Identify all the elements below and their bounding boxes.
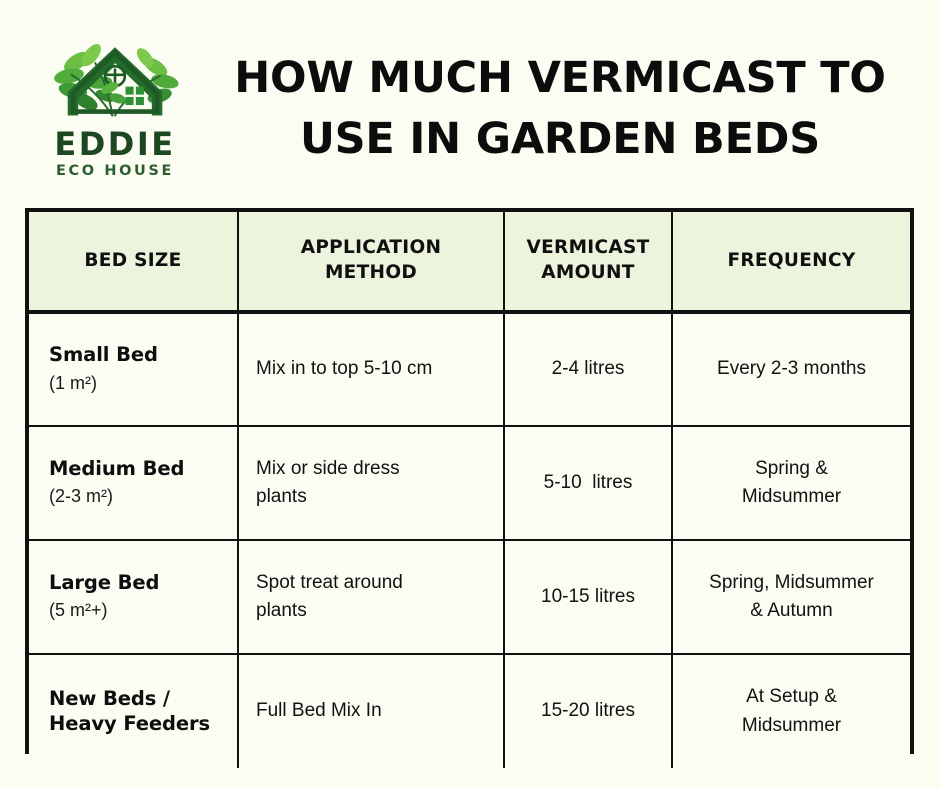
vermicast-table: BED SIZE APPLICATION METHOD VERMICAST AM… [29,212,910,768]
bed-size-name-line-2: Heavy Feeders [49,712,223,737]
table-header: BED SIZE APPLICATION METHOD VERMICAST AM… [29,212,910,312]
column-header-vermicast-amount-line-2: AMOUNT [511,261,665,286]
cell-application-method: Full Bed Mix In [238,654,504,768]
infographic-page: EDDIE ECO HOUSE HOW MUCH VERMICAST TO US… [0,0,940,788]
cell-frequency: At Setup & Midsummer [672,654,910,768]
column-header-bed-size-line-1: BED SIZE [35,249,231,274]
bed-size-name: New Beds / [49,687,223,712]
brand-logo: EDDIE ECO HOUSE [45,38,185,173]
frequency-line-1: Spring & [681,455,902,484]
table-row: Small Bed (1 m²) Mix in to top 5-10 cm 2… [29,312,910,426]
cell-bed-size: Large Bed (5 m²+) [29,540,238,654]
application-method-line-1: Full Bed Mix In [256,697,493,726]
column-header-frequency: FREQUENCY [672,212,910,312]
bed-size-name: Large Bed [49,571,223,596]
cell-vermicast-amount: 5-10 litres [504,426,672,540]
cell-vermicast-amount: 2-4 litres [504,312,672,426]
bed-size-area: (1 m²) [49,370,223,396]
column-header-frequency-line-1: FREQUENCY [679,249,904,274]
bed-size-area: (5 m²+) [49,597,223,623]
cell-bed-size: New Beds / Heavy Feeders [29,654,238,768]
table-row: Large Bed (5 m²+) Spot treat around plan… [29,540,910,654]
eco-house-leaf-icon [49,38,181,130]
application-method-line-1: Mix in to top 5-10 cm [256,355,493,384]
cell-frequency: Spring & Midsummer [672,426,910,540]
table-header-row: BED SIZE APPLICATION METHOD VERMICAST AM… [29,212,910,312]
frequency-line-2: & Autumn [681,597,902,626]
vermicast-table-container: BED SIZE APPLICATION METHOD VERMICAST AM… [25,208,914,754]
cell-frequency: Every 2-3 months [672,312,910,426]
frequency-line-2: Midsummer [681,712,902,741]
column-header-vermicast-amount-line-1: VERMICAST [511,236,665,261]
column-header-application-method-line-2: METHOD [245,261,497,286]
table-row: Medium Bed (2-3 m²) Mix or side dress pl… [29,426,910,540]
table-body: Small Bed (1 m²) Mix in to top 5-10 cm 2… [29,312,910,768]
brand-wordmark: EDDIE ECO HOUSE [54,128,175,179]
page-title-line-1: HOW MUCH VERMICAST TO [200,48,920,109]
bed-size-area: (2-3 m²) [49,483,223,509]
frequency-line-1: At Setup & [681,683,902,712]
column-header-application-method-line-1: APPLICATION [245,236,497,261]
frequency-line-1: Spring, Midsummer [681,569,902,598]
bed-size-name: Medium Bed [49,457,223,482]
column-header-vermicast-amount: VERMICAST AMOUNT [504,212,672,312]
cell-vermicast-amount: 10-15 litres [504,540,672,654]
application-method-line-2: plants [256,597,493,626]
cell-application-method: Mix in to top 5-10 cm [238,312,504,426]
cell-bed-size: Small Bed (1 m²) [29,312,238,426]
application-method-line-1: Mix or side dress [256,455,493,484]
application-method-line-1: Spot treat around [256,569,493,598]
page-title: HOW MUCH VERMICAST TO USE IN GARDEN BEDS [200,48,920,171]
page-title-line-2: USE IN GARDEN BEDS [200,109,920,170]
column-header-bed-size: BED SIZE [29,212,238,312]
frequency-line-2: Midsummer [681,483,902,512]
table-row: New Beds / Heavy Feeders Full Bed Mix In… [29,654,910,768]
application-method-line-2: plants [256,483,493,512]
bed-size-name: Small Bed [49,343,223,368]
cell-application-method: Spot treat around plants [238,540,504,654]
page-header: EDDIE ECO HOUSE HOW MUCH VERMICAST TO US… [0,0,940,200]
cell-application-method: Mix or side dress plants [238,426,504,540]
cell-bed-size: Medium Bed (2-3 m²) [29,426,238,540]
brand-name: EDDIE [54,128,175,160]
cell-vermicast-amount: 15-20 litres [504,654,672,768]
frequency-line-1: Every 2-3 months [681,355,902,384]
cell-frequency: Spring, Midsummer & Autumn [672,540,910,654]
brand-tagline: ECO HOUSE [54,164,175,179]
column-header-application-method: APPLICATION METHOD [238,212,504,312]
